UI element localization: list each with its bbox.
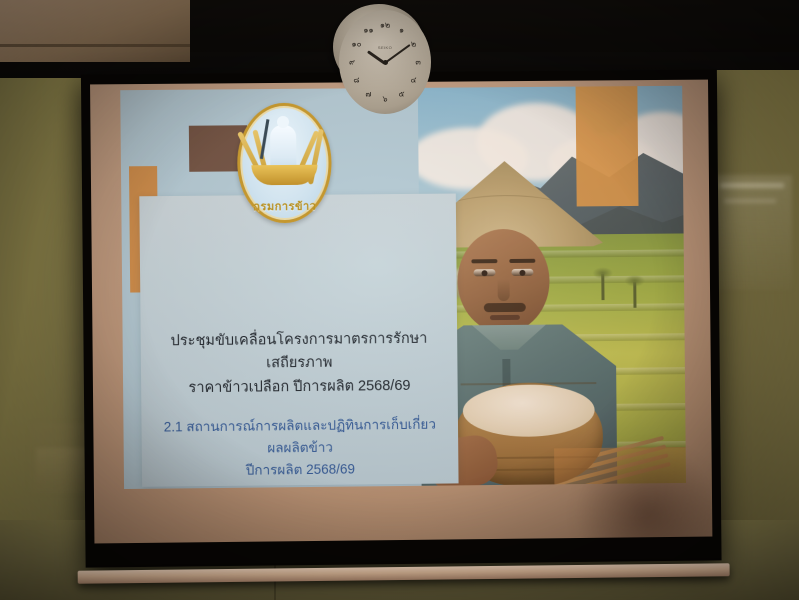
farmer-eyebrow-right: [509, 259, 535, 263]
clock-numeral-8: ๘: [353, 73, 359, 86]
clock-numeral-10: ๑๐: [351, 38, 361, 51]
clock-numeral-5: ๕: [399, 88, 405, 101]
presentation-slide: ประชุมขับเคลื่อนโครงการมาตรการรักษาเสถีย…: [120, 86, 686, 489]
clock-numeral-1: ๑: [399, 23, 404, 36]
ceiling-panel: [0, 0, 190, 62]
rice-department-emblem: กรมการข้าว: [237, 103, 332, 224]
farmer-eye-right: [511, 269, 533, 276]
sign-bar-top: [720, 183, 784, 188]
slide-subtitle-line2: ปีการผลิต 2568/69: [152, 458, 449, 483]
sign-bar-second: [724, 199, 776, 203]
clock-numeral-11: ๑๑: [363, 23, 373, 36]
clock-numeral-2: ๒: [411, 38, 416, 51]
slide-title-line1: ประชุมขับเคลื่อนโครงการมาตรการรักษาเสถีย…: [151, 328, 448, 378]
clock-numeral-4: ๔: [410, 73, 416, 86]
clock-numeral-12: ๑๒: [380, 18, 390, 31]
projection-screen: ประชุมขับเคลื่อนโครงการมาตรการรักษาเสถีย…: [81, 70, 722, 568]
farmer-eye-left: [473, 269, 495, 276]
farmer-nose: [498, 279, 510, 301]
slide-deco-orange-top: [575, 86, 638, 207]
farmer-mouth: [490, 315, 520, 320]
photo-palm-tree: [633, 282, 636, 308]
clock-center-pin: [383, 60, 388, 65]
slide-title-line2: ราคาข้าวเปลือก ปีการผลิต 2568/69: [151, 375, 448, 401]
clock-brand-label: SEIKO: [378, 45, 392, 50]
wall-clock: SEIKO ๑๒ ๑ ๒ ๓ ๔ ๕ ๖ ๗ ๘ ๙ ๑๐ ๑๑: [333, 4, 425, 90]
audience-head-shadow: [572, 441, 712, 544]
slide-subtitle-line1: 2.1 สถานการณ์การผลิตและปฏิทินการเก็บเกี่…: [151, 414, 448, 461]
right-wall-sign: [714, 175, 792, 290]
clock-numeral-3: ๓: [415, 56, 420, 69]
left-wall-poster: [30, 423, 90, 493]
slide-text-block: ประชุมขับเคลื่อนโครงการมาตรการรักษาเสถีย…: [141, 327, 460, 489]
clock-face: SEIKO ๑๒ ๑ ๒ ๓ ๔ ๕ ๖ ๗ ๘ ๙ ๑๐ ๑๑: [339, 10, 431, 114]
farmer-moustache: [484, 303, 526, 312]
farmer-face: [457, 229, 550, 334]
slide-text-panel: ประชุมขับเคลื่อนโครงการมาตรการรักษาเสถีย…: [139, 194, 458, 487]
clock-numeral-9: ๙: [349, 56, 355, 69]
clock-numeral-6: ๖: [382, 93, 387, 106]
emblem-label: กรมการข้าว: [238, 197, 332, 216]
basket-rice-grains: [463, 384, 595, 437]
clock-numeral-7: ๗: [365, 88, 371, 101]
projection-surface: ประชุมขับเคลื่อนโครงการมาตรการรักษาเสถีย…: [90, 80, 712, 544]
room-scene: SEIKO ๑๒ ๑ ๒ ๓ ๔ ๕ ๖ ๗ ๘ ๙ ๑๐ ๑๑: [0, 0, 799, 600]
farmer-eyebrow-left: [471, 259, 497, 263]
